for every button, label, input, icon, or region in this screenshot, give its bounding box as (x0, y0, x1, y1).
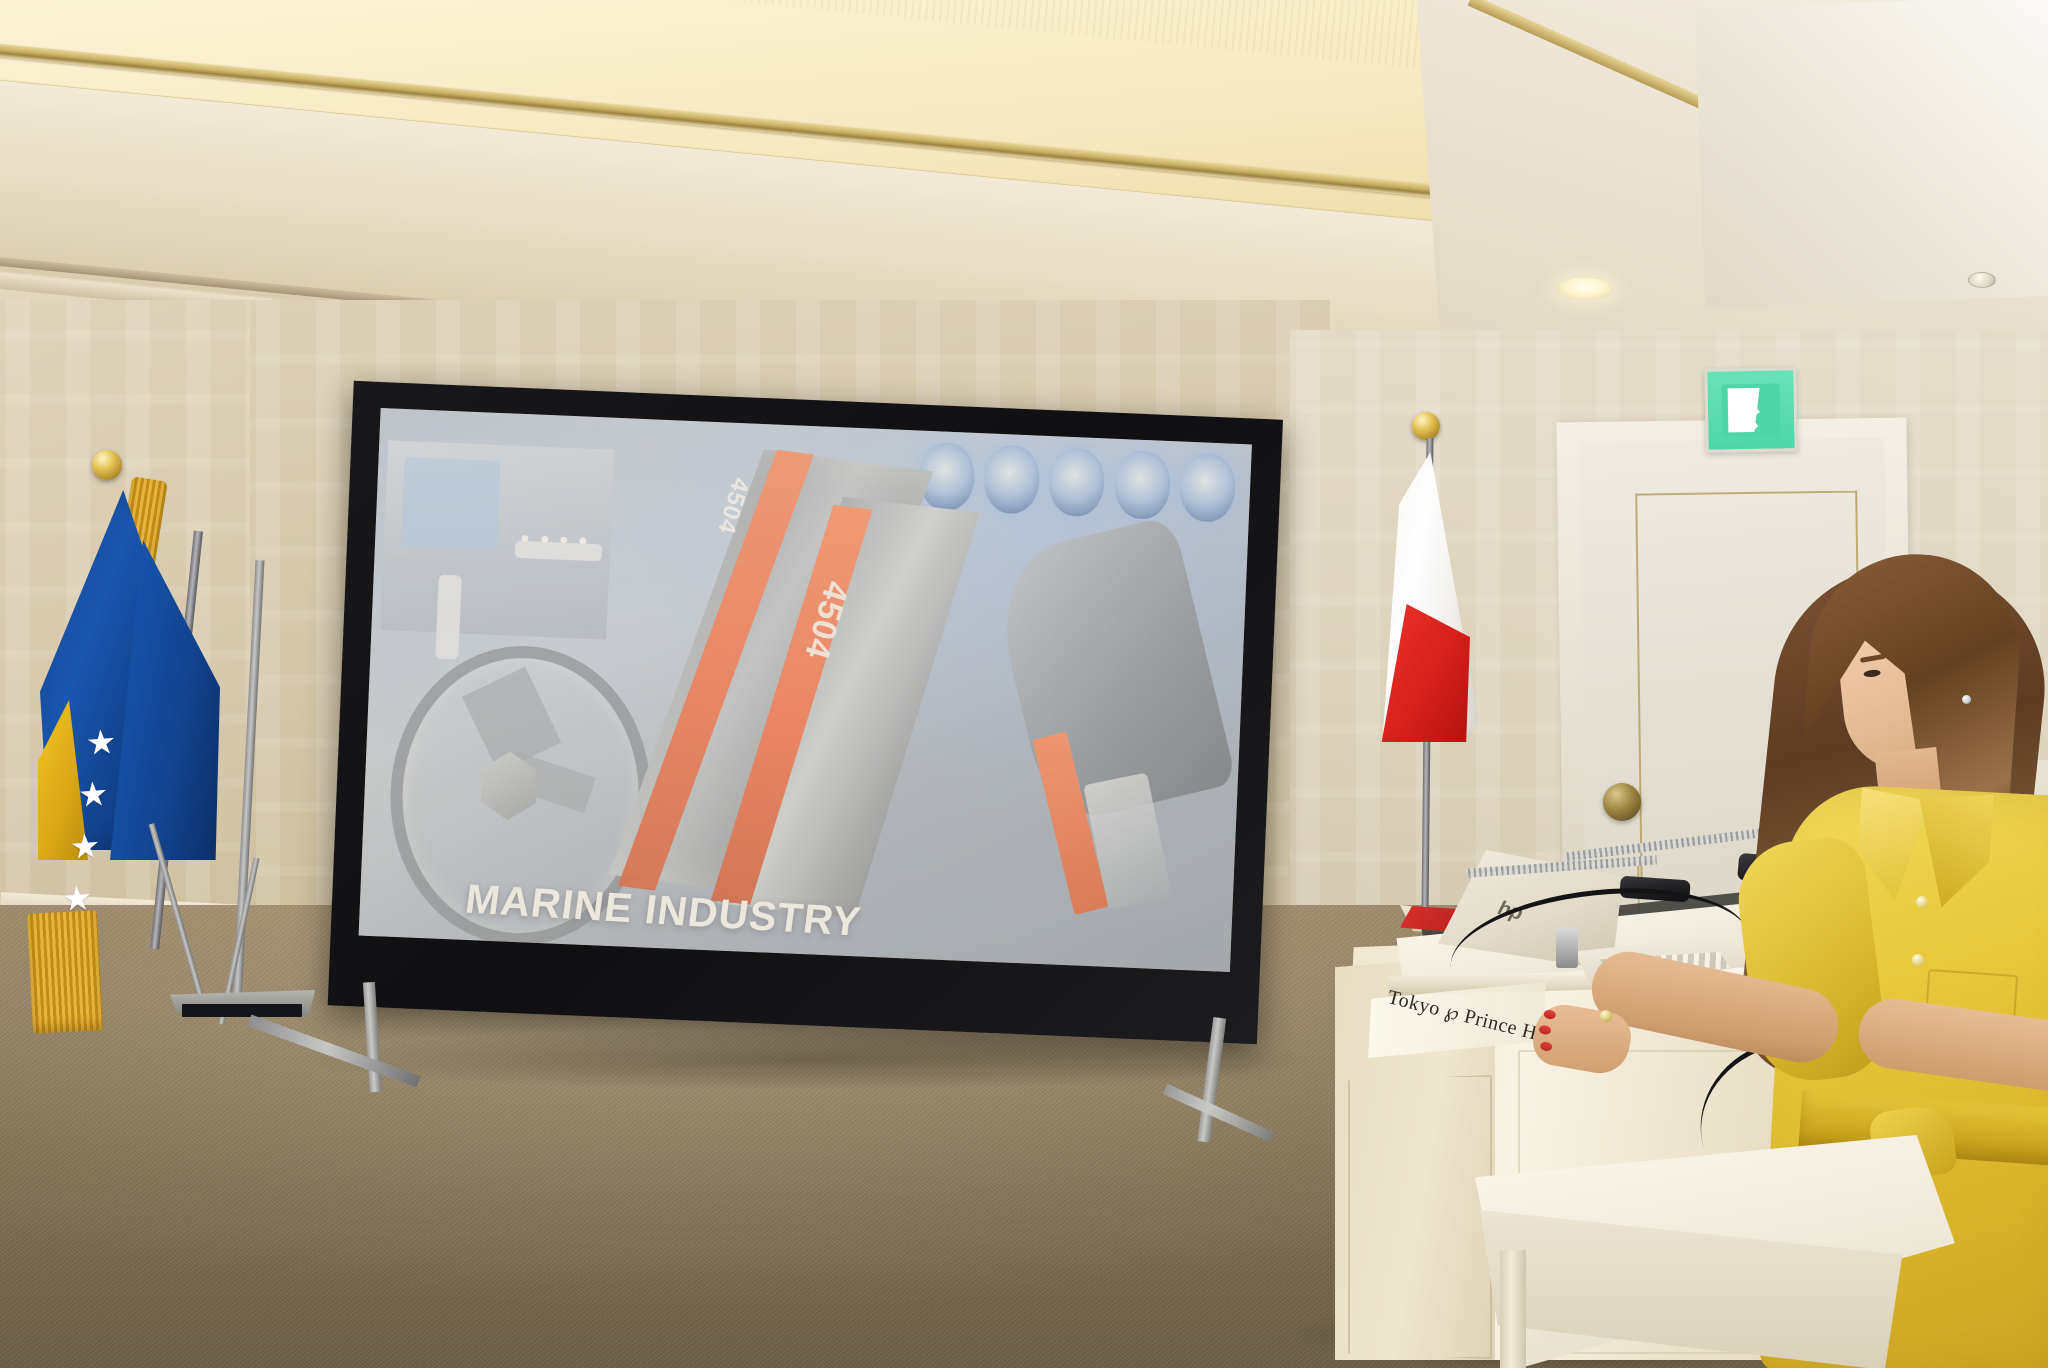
slide-gauge (1048, 447, 1106, 518)
running-man-exit-icon (1720, 381, 1783, 438)
projection-screen-surface: 4504 4504 MARINE INDUSTRY (359, 408, 1252, 972)
sprinkler-head-icon (1968, 272, 1996, 288)
flag-star: ★ (77, 777, 110, 813)
earring (1962, 695, 1971, 704)
podium-side-panel (1348, 1075, 1492, 1359)
recessed-downlight-icon (1556, 278, 1614, 300)
projected-slide: 4504 4504 MARINE INDUSTRY (359, 408, 1252, 972)
slide-switch-column (436, 574, 462, 659)
slide-button-row (514, 540, 602, 561)
flag-star: ★ (69, 829, 102, 865)
fingernail (1538, 1024, 1551, 1035)
side-table-leg (1500, 1250, 1526, 1368)
fingernail (1539, 1041, 1552, 1052)
finger-ring (1600, 1010, 1612, 1022)
slide-gauge (1179, 452, 1237, 523)
dress-button (1916, 896, 1928, 908)
dress-button (1912, 954, 1924, 966)
slide-dash-display (401, 457, 501, 551)
flagpole-finial-icon (1412, 412, 1440, 440)
ceiling-corner (1695, 0, 2048, 308)
flag-star: ★ (85, 725, 118, 761)
photo-scene: 4504 4504 MARINE INDUSTRY ★ ★ ★ ★ ★ (0, 0, 2048, 1368)
slide-gauge (983, 444, 1041, 515)
flag-stand-label (182, 1004, 302, 1017)
door-knob[interactable] (1603, 783, 1641, 821)
projection-screen: 4504 4504 MARINE INDUSTRY (327, 381, 1283, 1059)
emergency-exit-sign (1704, 367, 1797, 453)
fingernail (1543, 1009, 1556, 1020)
slide-gauge (1114, 449, 1172, 520)
eye (1863, 669, 1881, 678)
flagpole-finial-icon (92, 450, 122, 480)
flag-fringe-bottom (27, 910, 103, 1033)
